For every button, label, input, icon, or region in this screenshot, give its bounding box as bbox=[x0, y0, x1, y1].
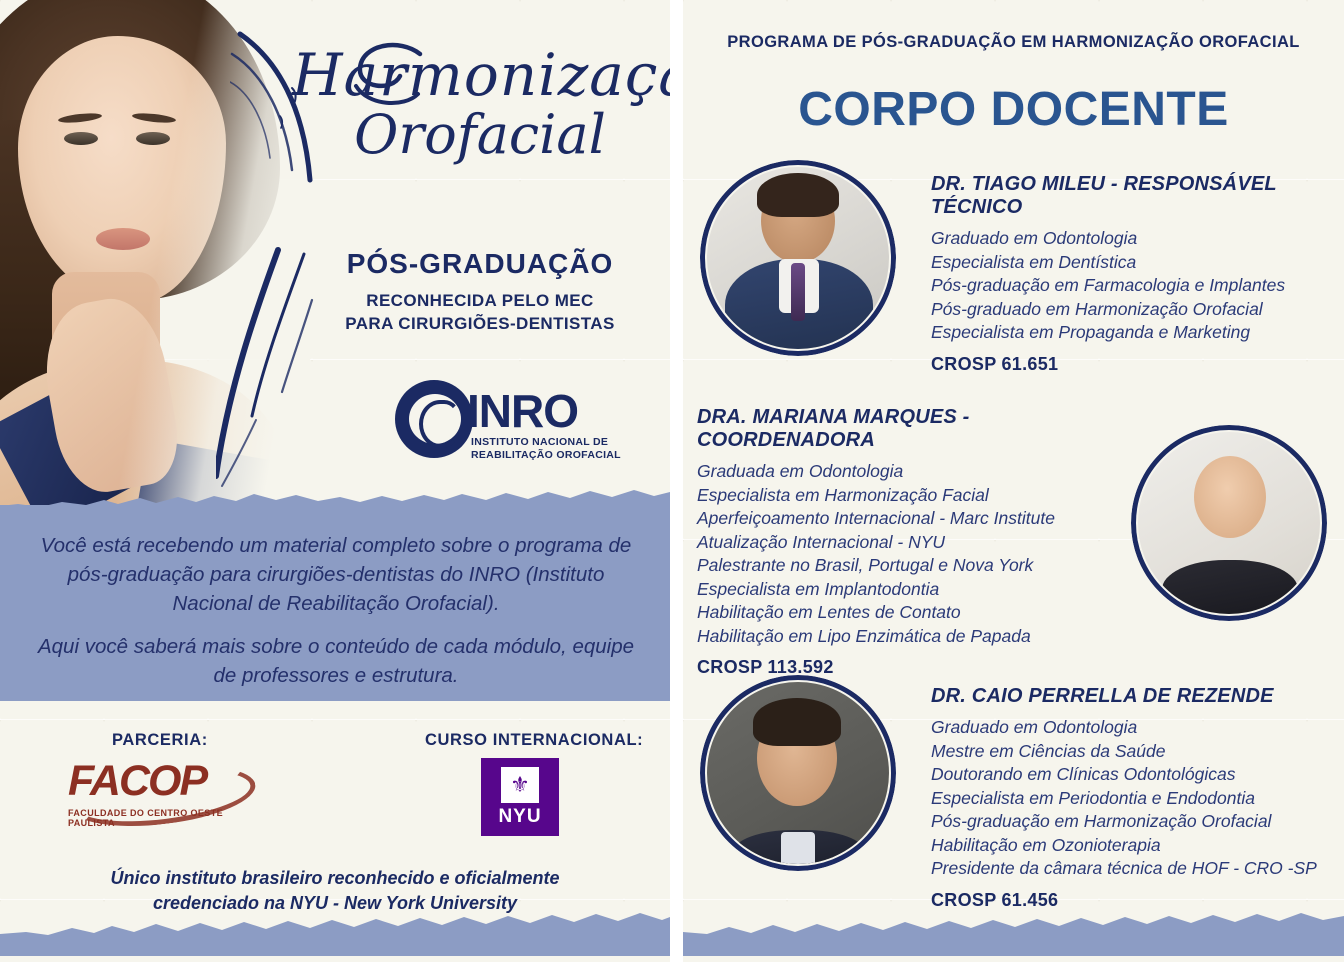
avatar bbox=[1131, 425, 1327, 621]
brochure-page: Harmonização Orofacial PÓS-GRADUAÇÃO REC… bbox=[0, 0, 1344, 962]
intro-quote-text: Você está recebendo um material completo… bbox=[36, 531, 636, 705]
torn-edge-bottom-right-decoration bbox=[683, 912, 1344, 962]
inro-logo: INRO INSTITUTO NACIONAL DE REABILITAÇÃO … bbox=[395, 378, 625, 474]
mec-line-1: RECONHECIDA PELO MEC bbox=[300, 290, 660, 313]
partnership-label: PARCERIA: bbox=[112, 731, 208, 750]
credential-item: Especialista em Dentística bbox=[931, 251, 1331, 275]
credential-item: Especialista em Propaganda e Marketing bbox=[931, 321, 1331, 345]
credential-item: Pós-graduação em Farmacologia e Implante… bbox=[931, 274, 1331, 298]
nyu-logo-torch-box: ⚜ bbox=[501, 767, 539, 803]
faculty-card: DRA. MARIANA MARQUES - COORDENADORA Grad… bbox=[683, 400, 1344, 650]
torch-icon: ⚜ bbox=[510, 774, 530, 796]
accreditation-footer: Único instituto brasileiro reconhecido e… bbox=[35, 866, 635, 916]
program-title: PROGRAMA DE PÓS-GRADUAÇÃO EM HARMONIZAÇÃ… bbox=[683, 33, 1344, 52]
avatar bbox=[700, 160, 896, 356]
international-course-label: CURSO INTERNACIONAL: bbox=[425, 731, 643, 750]
pos-graduacao-label: PÓS-GRADUAÇÃO bbox=[300, 248, 660, 280]
faculty-info: DR. CAIO PERRELLA DE REZENDE Graduado em… bbox=[931, 685, 1336, 911]
right-panel: PROGRAMA DE PÓS-GRADUAÇÃO EM HARMONIZAÇÃ… bbox=[683, 0, 1344, 962]
mec-line-2: PARA CIRURGIÕES-DENTISTAS bbox=[300, 313, 660, 336]
credential-item: Especialista em Periodontia e Endodontia bbox=[931, 787, 1336, 811]
credential-item: Especialista em Implantodontia bbox=[697, 578, 1117, 602]
credential-item: Graduado em Odontologia bbox=[931, 716, 1336, 740]
inro-subtitle-line-2: REABILITAÇÃO OROFACIAL bbox=[471, 449, 621, 462]
faculty-info: DR. TIAGO MILEU - RESPONSÁVEL TÉCNICO Gr… bbox=[931, 173, 1331, 375]
inro-logo-face-icon bbox=[419, 400, 461, 448]
credential-item: Pós-graduação em Harmonização Orofacial bbox=[931, 810, 1336, 834]
credential-item: Palestrante no Brasil, Portugal e Nova Y… bbox=[697, 554, 1117, 578]
title-line-1: Harmonização bbox=[292, 46, 668, 104]
faculty-name: DRA. MARIANA MARQUES - COORDENADORA bbox=[697, 406, 1117, 452]
title-line-2: Orofacial bbox=[292, 108, 668, 162]
credential-item: Especialista em Harmonização Facial bbox=[697, 484, 1117, 508]
brochure-title: Harmonização Orofacial bbox=[292, 46, 668, 162]
faculty-credentials: Graduada em Odontologia Especialista em … bbox=[697, 460, 1117, 648]
faculty-credentials: Graduado em Odontologia Mestre em Ciênci… bbox=[931, 716, 1336, 881]
credential-item: Graduada em Odontologia bbox=[697, 460, 1117, 484]
credential-item: Pós-graduado em Harmonização Orofacial bbox=[931, 298, 1331, 322]
inro-subtitle-line-1: INSTITUTO NACIONAL DE bbox=[471, 436, 621, 449]
facop-logo: FACOP FACULDADE DO CENTRO OESTE PAULISTA bbox=[68, 760, 248, 830]
avatar-ring-accent-icon bbox=[700, 675, 896, 871]
inro-logo-wordmark: INRO bbox=[467, 384, 578, 438]
credential-item: Mestre em Ciências da Saúde bbox=[931, 740, 1336, 764]
credential-item: Habilitação em Lentes de Contato bbox=[697, 601, 1117, 625]
credential-item: Aperfeiçoamento Internacional - Marc Ins… bbox=[697, 507, 1117, 531]
credential-item: Habilitação em Ozonioterapia bbox=[931, 834, 1336, 858]
intro-paragraph-1: Você está recebendo um material completo… bbox=[36, 531, 636, 618]
left-panel: Harmonização Orofacial PÓS-GRADUAÇÃO REC… bbox=[0, 0, 670, 962]
faculty-card: DR. TIAGO MILEU - RESPONSÁVEL TÉCNICO Gr… bbox=[683, 155, 1344, 370]
mec-recognition-text: RECONHECIDA PELO MEC PARA CIRURGIÕES-DEN… bbox=[300, 290, 660, 336]
credential-item: Presidente da câmara técnica de HOF - CR… bbox=[931, 857, 1336, 881]
intro-paragraph-2: Aqui você saberá mais sobre o conteúdo d… bbox=[36, 632, 636, 690]
faculty-card: DR. CAIO PERRELLA DE REZENDE Graduado em… bbox=[683, 665, 1344, 905]
credential-item: Graduado em Odontologia bbox=[931, 227, 1331, 251]
accreditation-line-1: Único instituto brasileiro reconhecido e… bbox=[35, 866, 635, 891]
credential-item: Doutorando em Clínicas Odontológicas bbox=[931, 763, 1336, 787]
torn-edge-bottom-left-decoration bbox=[0, 912, 670, 962]
faculty-name: DR. CAIO PERRELLA DE REZENDE bbox=[931, 685, 1336, 708]
inro-logo-subtitle: INSTITUTO NACIONAL DE REABILITAÇÃO OROFA… bbox=[471, 436, 621, 462]
intro-quote-block: Você está recebendo um material completo… bbox=[0, 505, 670, 701]
credential-item: Habilitação em Lipo Enzimática de Papada bbox=[697, 625, 1117, 649]
faculty-crosp: CROSP 61.651 bbox=[931, 354, 1331, 375]
faculty-crosp: CROSP 61.456 bbox=[931, 890, 1336, 911]
nyu-logo: ⚜ NYU bbox=[481, 758, 559, 836]
avatar bbox=[700, 675, 896, 871]
model-photo bbox=[0, 0, 310, 520]
nyu-logo-wordmark: NYU bbox=[498, 806, 541, 828]
faculty-name: DR. TIAGO MILEU - RESPONSÁVEL TÉCNICO bbox=[931, 173, 1331, 219]
model-photo-fade bbox=[0, 0, 310, 520]
faculty-credentials: Graduado em Odontologia Especialista em … bbox=[931, 227, 1331, 345]
avatar-ring-accent-icon bbox=[700, 160, 896, 356]
avatar-ring-accent-icon bbox=[1131, 425, 1327, 621]
credential-item: Atualização Internacional - NYU bbox=[697, 531, 1117, 555]
faculty-info: DRA. MARIANA MARQUES - COORDENADORA Grad… bbox=[697, 406, 1117, 678]
section-title-corpo-docente: CORPO DOCENTE bbox=[683, 82, 1344, 137]
